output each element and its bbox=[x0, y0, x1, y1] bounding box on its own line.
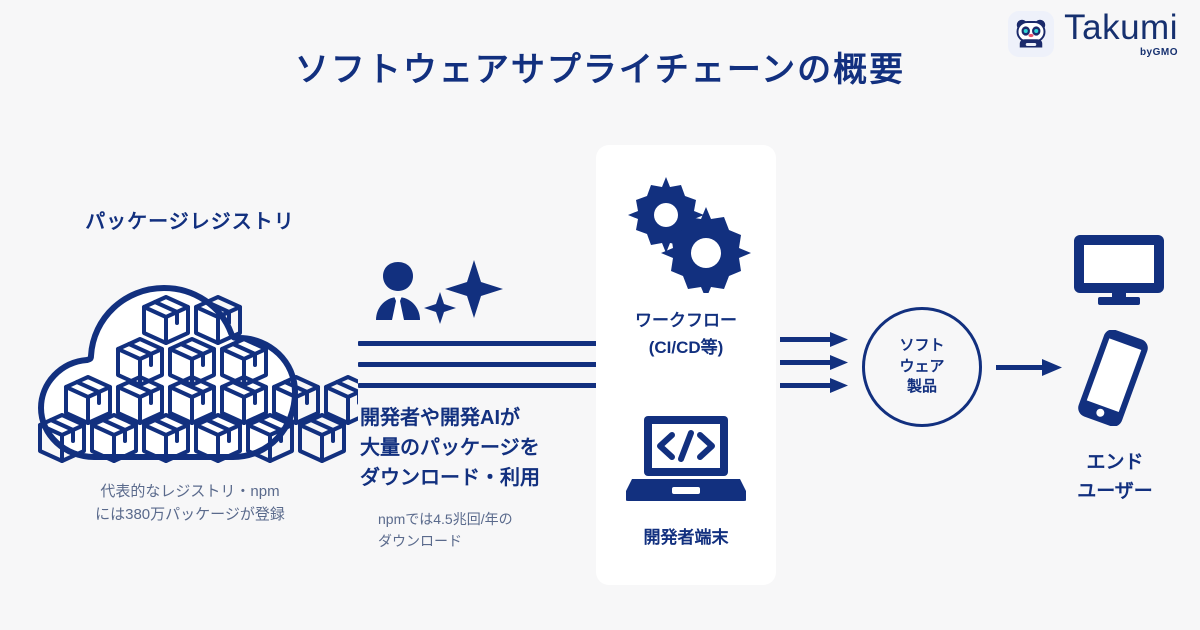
flow-line-3 bbox=[358, 383, 598, 388]
brand-sub: byGMO bbox=[1140, 47, 1178, 58]
brand-name: Takumi bbox=[1064, 10, 1178, 45]
flow-line-1 bbox=[358, 341, 598, 346]
smartphone-icon bbox=[1070, 330, 1156, 426]
registry-title: パッケージレジストリ bbox=[30, 205, 350, 234]
registry-caption-line2: には380万パッケージが登録 bbox=[25, 503, 355, 526]
registry-caption: 代表的なレジストリ・npm には380万パッケージが登録 bbox=[25, 480, 355, 527]
diagram-canvas: ソフトウェアサプライチェーンの概要 Takum bbox=[0, 0, 1200, 630]
brand-logo: Takumi byGMO bbox=[1008, 10, 1178, 58]
end-user-label: エンド ユーザー bbox=[1040, 448, 1190, 507]
end-user-arrow bbox=[996, 356, 1062, 385]
product-arrows bbox=[780, 328, 860, 413]
software-product-line2: ウェア bbox=[899, 357, 944, 378]
developer-device-label: 開発者端末 bbox=[596, 523, 776, 548]
gears-icon bbox=[620, 173, 752, 293]
workflow-label-line1: ワークフロー bbox=[596, 307, 776, 334]
brand-text: Takumi byGMO bbox=[1064, 10, 1178, 58]
developer-caption-line2: ダウンロード bbox=[378, 530, 608, 552]
developer-headline: 開発者や開発AIが 大量のパッケージを ダウンロード・利用 bbox=[360, 403, 600, 493]
panda-icon bbox=[1008, 11, 1054, 57]
monitor-icon bbox=[1072, 233, 1166, 305]
developer-caption: npmでは4.5兆回/年の ダウンロード bbox=[378, 508, 608, 553]
developer-headline-line2: 大量のパッケージを bbox=[360, 433, 600, 463]
end-user-label-line1: エンド bbox=[1040, 448, 1190, 477]
developer-headline-line3: ダウンロード・利用 bbox=[360, 463, 600, 493]
software-product-label: ソフト ウェア 製品 bbox=[899, 336, 944, 398]
developer-headline-line1: 開発者や開発AIが bbox=[360, 403, 600, 433]
person-icon bbox=[376, 262, 420, 320]
workflow-label-line2: (CI/CD等) bbox=[596, 334, 776, 361]
workflow-label: ワークフロー (CI/CD等) bbox=[596, 307, 776, 361]
build-stage-card: ワークフロー (CI/CD等) 開発者端末 bbox=[596, 145, 776, 585]
software-product-line3: 製品 bbox=[899, 377, 944, 398]
registry-caption-line1: 代表的なレジストリ・npm bbox=[25, 480, 355, 503]
end-user-label-line2: ユーザー bbox=[1040, 477, 1190, 506]
developer-caption-line1: npmでは4.5兆回/年の bbox=[378, 508, 608, 530]
software-product-node: ソフト ウェア 製品 bbox=[862, 307, 982, 427]
laptop-code-icon bbox=[626, 413, 746, 508]
cloud-with-packages-icon bbox=[28, 245, 358, 470]
software-product-line1: ソフト bbox=[899, 336, 944, 357]
developer-icons bbox=[370, 258, 530, 328]
flow-line-2 bbox=[358, 362, 598, 367]
